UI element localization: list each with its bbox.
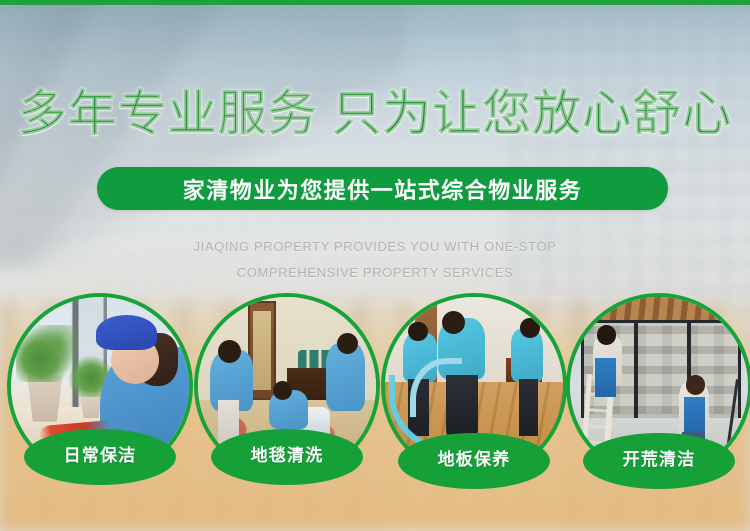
service-card-floor-maintenance[interactable]: 地板保养	[381, 293, 567, 479]
service-label-text: 开荒清洁	[623, 445, 696, 470]
service-label-badge: 开荒清洁	[583, 433, 735, 489]
english-subtitle-line-1: JIAQING PROPERTY PROVIDES YOU WITH ONE-S…	[0, 234, 750, 260]
promo-banner: 多年专业服务 只为让您放心舒心 家清物业为您提供一站式综合物业服务 JIAQIN…	[0, 0, 750, 531]
service-card-carpet-cleaning[interactable]: 地毯清洗	[194, 293, 380, 479]
service-label-badge: 地毯清洗	[211, 429, 363, 485]
top-green-rule	[0, 0, 750, 5]
service-label-text: 地板保养	[438, 445, 511, 470]
service-card-daily-cleaning[interactable]: 日常保洁	[7, 293, 193, 479]
english-subtitle-line-2: COMPREHENSIVE PROPERTY SERVICES	[0, 260, 750, 286]
service-label-badge: 日常保洁	[24, 429, 176, 485]
page-title: 多年专业服务 只为让您放心舒心	[0, 84, 750, 144]
subtitle-pill: 家清物业为您提供一站式综合物业服务	[97, 167, 668, 210]
english-subtitle: JIAQING PROPERTY PROVIDES YOU WITH ONE-S…	[0, 234, 750, 286]
service-label-text: 地毯清洗	[251, 441, 324, 466]
service-card-list: 日常保洁	[0, 293, 750, 485]
subtitle-pill-text: 家清物业为您提供一站式综合物业服务	[183, 173, 583, 205]
service-label-text: 日常保洁	[64, 441, 137, 466]
service-label-badge: 地板保养	[398, 433, 550, 489]
service-card-post-construction-cleaning[interactable]: 开荒清洁	[566, 293, 750, 479]
